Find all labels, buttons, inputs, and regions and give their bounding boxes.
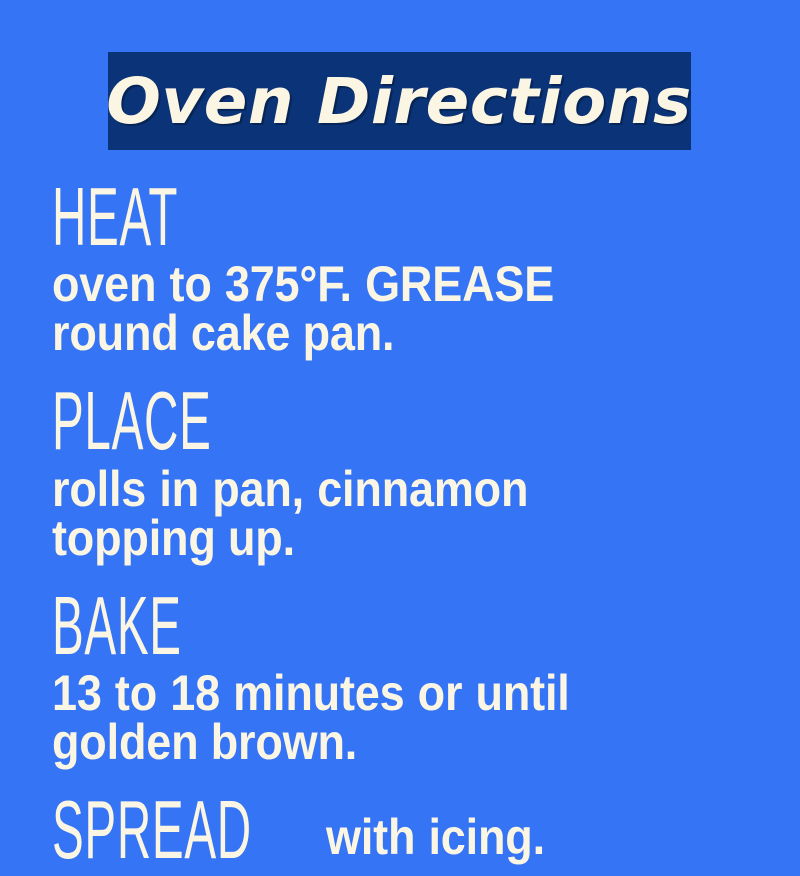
step-line-primary: HEAToven to 375°F. GREASE [52,188,752,310]
instruction-steps-list: HEAToven to 375°F. GREASE round cake pan… [52,188,752,873]
step-line-primary: BAKE13 to 18 minutes or until [52,597,752,719]
instruction-step: HEAToven to 375°F. GREASE round cake pan… [52,188,752,362]
step-text-second-line: topping up. [52,509,682,567]
step-line-primary: SPREADwith icing. [52,801,752,872]
title-banner: Oven Directions [108,52,691,150]
step-text-second-line: golden brown. [52,713,682,771]
instruction-step: PLACErolls in pan, cinnamon topping up. [52,392,752,566]
step-keyword: BAKE [52,584,182,668]
page-title: Oven Directions [108,70,691,133]
step-keyword: PLACE [52,380,212,464]
instruction-step: BAKE13 to 18 minutes or until golden bro… [52,597,752,771]
step-keyword: HEAT [52,175,178,259]
step-line-primary: PLACErolls in pan, cinnamon [52,392,752,514]
instruction-step: SPREADwith icing. [52,801,752,872]
step-text-second-line: round cake pan. [52,304,682,362]
step-keyword: SPREAD [52,788,252,872]
oven-directions-card: Oven Directions HEAToven to 375°F. GREAS… [0,0,800,800]
step-text-first-line: with icing. [326,809,545,865]
